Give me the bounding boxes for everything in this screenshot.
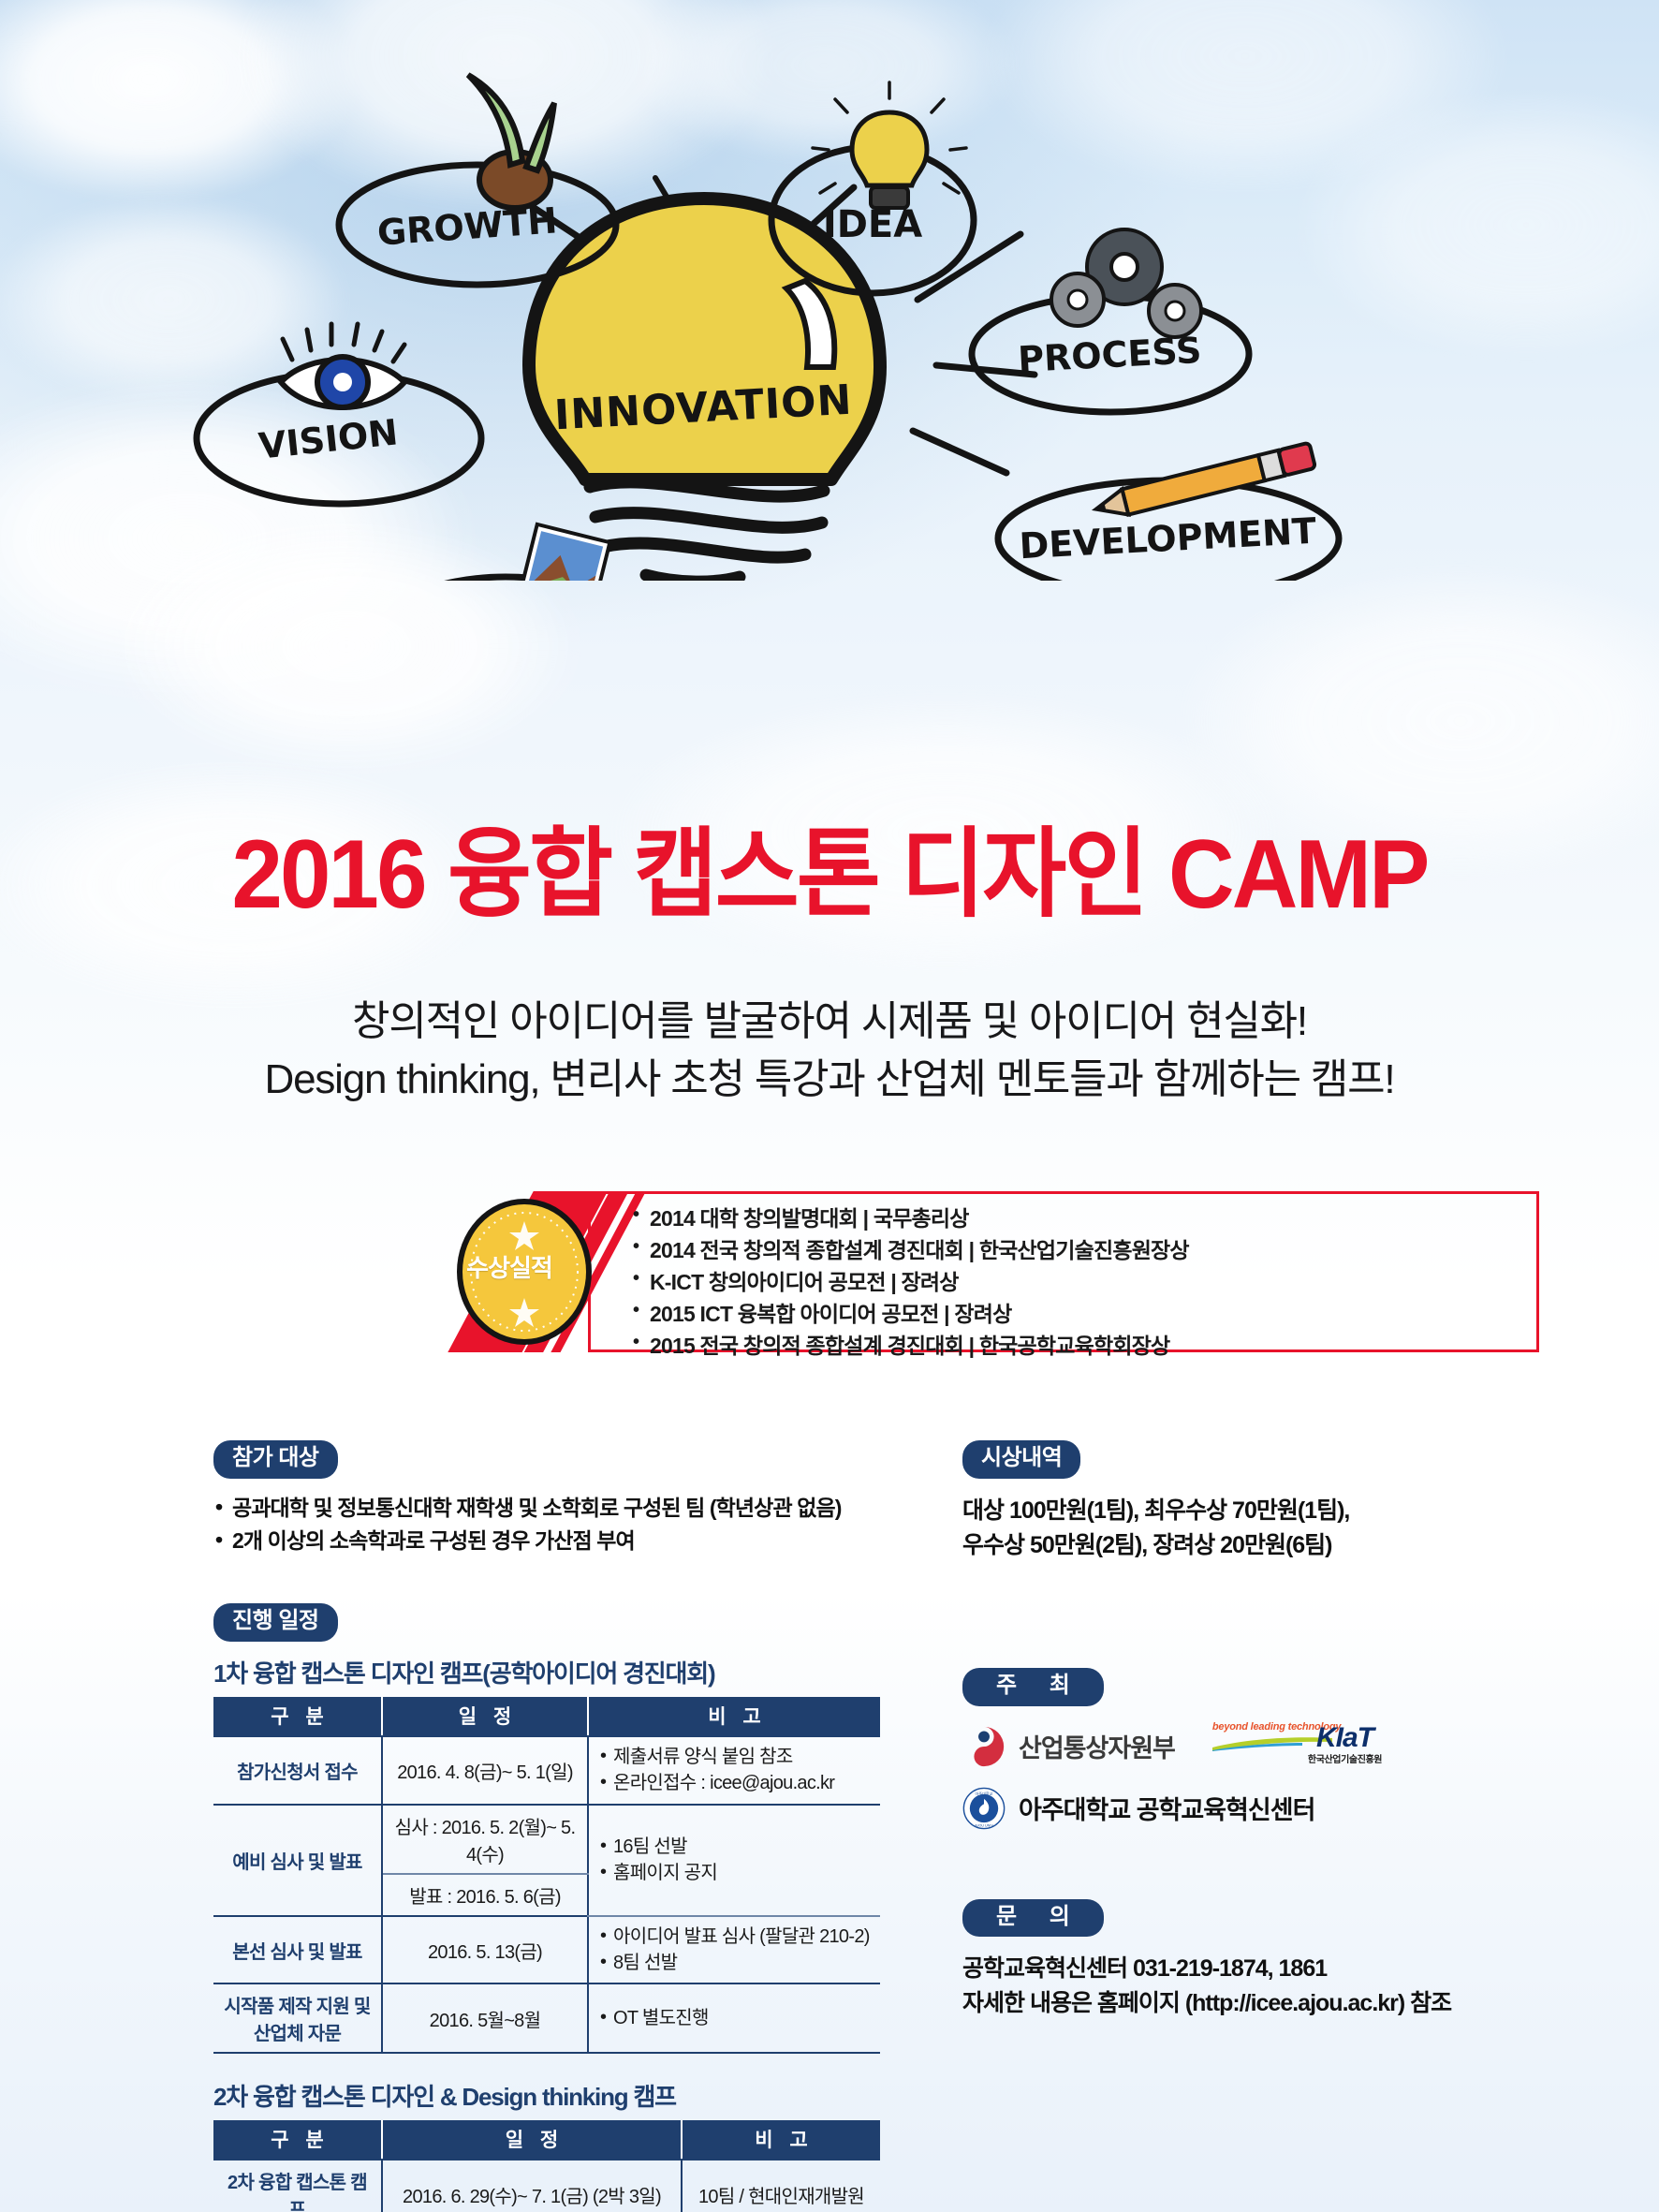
participation-item: 2개 이상의 소속학과로 구성된 경우 가산점 부여 <box>213 1525 925 1558</box>
award-item: 2015 전국 창의적 종합설계 경진대회 | 한국공학교육학회장상 <box>633 1330 1513 1362</box>
sprout-icon <box>468 75 554 208</box>
column-header-date: 일 정 <box>382 1697 588 1736</box>
eye-icon <box>281 324 404 407</box>
prizes-line-2: 우수상 50만원(2팀), 장려상 20만원(6팀) <box>962 1528 1618 1563</box>
subtitle-line-1: 창의적인 아이디어를 발굴하여 시제품 및 아이디어 현실화! <box>0 993 1659 1051</box>
page-title: 2016 융합 캡스톤 디자인 CAMP <box>50 824 1609 926</box>
column-header-date: 일 정 <box>382 2120 682 2160</box>
awards-list: 2014 대학 창의발명대회 | 국무총리상 2014 전국 창의적 종합설계 … <box>633 1202 1513 1362</box>
poster-root: INNOVATION GROWTH IDEA <box>0 0 1659 2212</box>
camp2-title: 2차 융합 캡스톤 디자인 & Design thinking 캠프 <box>213 2078 925 2113</box>
table-row: 참가신청서 접수 2016. 4. 8(금)~ 5. 1(일) 제출서류 양식 … <box>213 1736 880 1805</box>
cell-date: 2016. 5월~8월 <box>382 1983 588 2053</box>
prizes-line-1: 대상 100만원(1팀), 최우수상 70만원(1팀), <box>962 1494 1618 1528</box>
photo-icon <box>515 524 610 581</box>
host-university-label: 아주대학교 공학교육혁신센터 <box>1019 1790 1314 1826</box>
cell-category: 시작품 제작 지원 및 산업체 자문 <box>213 1983 382 2053</box>
note-bullet: 아이디어 발표 심사 (팔달관 210-2) <box>600 1924 873 1950</box>
section-header-schedule: 진행 일정 <box>213 1603 338 1642</box>
note-bullet: 온라인접수 : icee@ajou.ac.kr <box>600 1770 873 1796</box>
section-header-participation: 참가 대상 <box>213 1440 338 1479</box>
cell-date: 2016. 5. 13(금) <box>382 1916 588 1984</box>
note-bullet: 홈페이지 공지 <box>600 1860 873 1886</box>
cell-note: OT 별도진행 <box>588 1983 880 2053</box>
gears-icon <box>1051 229 1201 337</box>
section-header-hosts: 주 최 <box>962 1668 1104 1706</box>
award-item: 2014 전국 창의적 종합설계 경진대회 | 한국산업기술진흥원장상 <box>633 1234 1513 1266</box>
subtitle-line-2: Design thinking, 변리사 초청 특강과 산업체 멘토들과 함께하… <box>0 1051 1659 1109</box>
lightbulb-icon <box>813 82 966 208</box>
cell-date-bottom: 발표 : 2016. 5. 6(금) <box>382 1874 588 1916</box>
participation-item: 공과대학 및 정보통신대학 재학생 및 소학회로 구성된 팀 (학년상관 없음) <box>213 1492 925 1526</box>
note-bullet: OT 별도진행 <box>600 2005 873 2031</box>
schedule-table-camp2: 구 분 일 정 비 고 2차 융합 캡스톤 캠프 2016. 6. 29(수)~… <box>213 2120 880 2212</box>
note-bullet: 16팀 선발 <box>600 1834 873 1860</box>
cell-note: 16팀 선발 홈페이지 공지 <box>588 1805 880 1916</box>
right-column: 시상내역 대상 100만원(1팀), 최우수상 70만원(1팀), 우수상 50… <box>962 1440 1618 2020</box>
column-header-category: 구 분 <box>213 2120 382 2160</box>
cell-date: 2016. 6. 29(수)~ 7. 1(금) (2박 3일) <box>382 2160 682 2212</box>
awards-section: 수상실적 2014 대학 창의발명대회 | 국무총리상 2014 전국 창의적 … <box>438 1191 1539 1352</box>
cell-date: 2016. 4. 8(금)~ 5. 1(일) <box>382 1736 588 1805</box>
kiat-subtitle: 한국산업기술진흥원 <box>1308 1751 1382 1765</box>
table-row: 2차 융합 캡스톤 캠프 2016. 6. 29(수)~ 7. 1(금) (2박… <box>213 2160 880 2212</box>
schedule-table-camp1: 구 분 일 정 비 고 참가신청서 접수 2016. 4. 8(금)~ 5. 1… <box>213 1697 880 2055</box>
column-header-note: 비 고 <box>588 1697 880 1736</box>
section-header-prizes: 시상내역 <box>962 1440 1080 1479</box>
table-row: 본선 심사 및 발표 2016. 5. 13(금) 아이디어 발표 심사 (팔달… <box>213 1916 880 1984</box>
contact-phone-line: 공학교육혁신센터 031-219-1874, 1861 <box>962 1952 1618 1985</box>
cell-category: 2차 융합 캡스톤 캠프 <box>213 2160 382 2212</box>
cell-category-line-1: 시작품 제작 지원 및 <box>224 1997 370 2017</box>
host-row-university: 아주대학교 AJOU UNIV 아주대학교 공학교육혁신센터 <box>962 1787 1618 1830</box>
node-inspiration: INSPIRATION <box>370 524 641 581</box>
kiat-logo: beyond leading technology KIaT 한국산업기술진흥원 <box>1212 1721 1400 1772</box>
table-header-row: 구 분 일 정 비 고 <box>213 2120 880 2160</box>
svg-text:VISION: VISION <box>257 411 400 466</box>
award-item: 2015 ICT 융복합 아이디어 공모전 | 장려상 <box>633 1298 1513 1330</box>
subtitle-block: 창의적인 아이디어를 발굴하여 시제품 및 아이디어 현실화! Design t… <box>0 993 1659 1110</box>
section-header-contact: 문 의 <box>962 1899 1104 1938</box>
cell-note: 제출서류 양식 붙임 참조 온라인접수 : icee@ajou.ac.kr <box>588 1736 880 1805</box>
award-item: 2014 대학 창의발명대회 | 국무총리상 <box>633 1202 1513 1234</box>
cell-category: 본선 심사 및 발표 <box>213 1916 382 1984</box>
camp1-title: 1차 융합 캡스톤 디자인 캠프(공학아이디어 경진대회) <box>213 1655 925 1689</box>
node-vision: VISION <box>197 324 481 504</box>
cell-note: 아이디어 발표 심사 (팔달관 210-2) 8팀 선발 <box>588 1916 880 1984</box>
contact-website-line: 자세한 내용은 홈페이지 (http://icee.ajou.ac.kr) 참조 <box>962 1986 1618 2020</box>
table-row: 예비 심사 및 발표 심사 : 2016. 5. 2(월)~ 5. 4(수) 1… <box>213 1805 880 1874</box>
cell-category-line-2: 산업체 자문 <box>254 2024 341 2044</box>
cell-category: 참가신청서 접수 <box>213 1736 382 1805</box>
central-bulb-icon: INNOVATION <box>529 199 880 581</box>
svg-text:DEVELOPMENT: DEVELOPMENT <box>1019 510 1317 568</box>
award-seal-label: 수상실적 <box>438 1191 580 1341</box>
host-ministry-label: 산업통상자원부 <box>1019 1728 1175 1764</box>
note-bullet: 8팀 선발 <box>600 1950 873 1976</box>
node-process: PROCESS <box>972 229 1249 412</box>
cell-note: 10팀 / 현대인재개발원 <box>682 2160 880 2212</box>
svg-text:AJOU UNIV: AJOU UNIV <box>975 1823 993 1827</box>
cell-date-top: 심사 : 2016. 5. 2(월)~ 5. 4(수) <box>382 1805 588 1874</box>
host-row-ministry: 산업통상자원부 beyond leading technology KIaT 한… <box>962 1721 1618 1772</box>
award-item: K-ICT 창의아이디어 공모전 | 장려상 <box>633 1266 1513 1298</box>
svg-text:아주대학교: 아주대학교 <box>976 1791 993 1796</box>
svg-text:IDEA: IDEA <box>823 203 922 246</box>
left-column: 참가 대상 공과대학 및 정보통신대학 재학생 및 소학회로 구성된 팀 (학년… <box>213 1440 925 2212</box>
kiat-wordmark: KIaT <box>1308 1725 1382 1752</box>
taegeuk-icon <box>962 1725 1006 1768</box>
title-block: 2016 융합 캡스톤 디자인 CAMP <box>0 824 1659 926</box>
cell-category: 예비 심사 및 발표 <box>213 1805 382 1916</box>
node-development: DEVELOPMENT <box>998 443 1339 581</box>
mindmap-illustration: INNOVATION GROWTH IDEA <box>0 0 1659 581</box>
note-bullet: 제출서류 양식 붙임 참조 <box>600 1744 873 1770</box>
column-header-category: 구 분 <box>213 1697 382 1736</box>
table-header-row: 구 분 일 정 비 고 <box>213 1697 880 1736</box>
table-row: 시작품 제작 지원 및 산업체 자문 2016. 5월~8월 OT 별도진행 <box>213 1983 880 2053</box>
column-header-note: 비 고 <box>682 2120 880 2160</box>
participation-list: 공과대학 및 정보통신대학 재학생 및 소학회로 구성된 팀 (학년상관 없음)… <box>213 1492 925 1558</box>
ajou-emblem-icon: 아주대학교 AJOU UNIV <box>962 1787 1006 1830</box>
